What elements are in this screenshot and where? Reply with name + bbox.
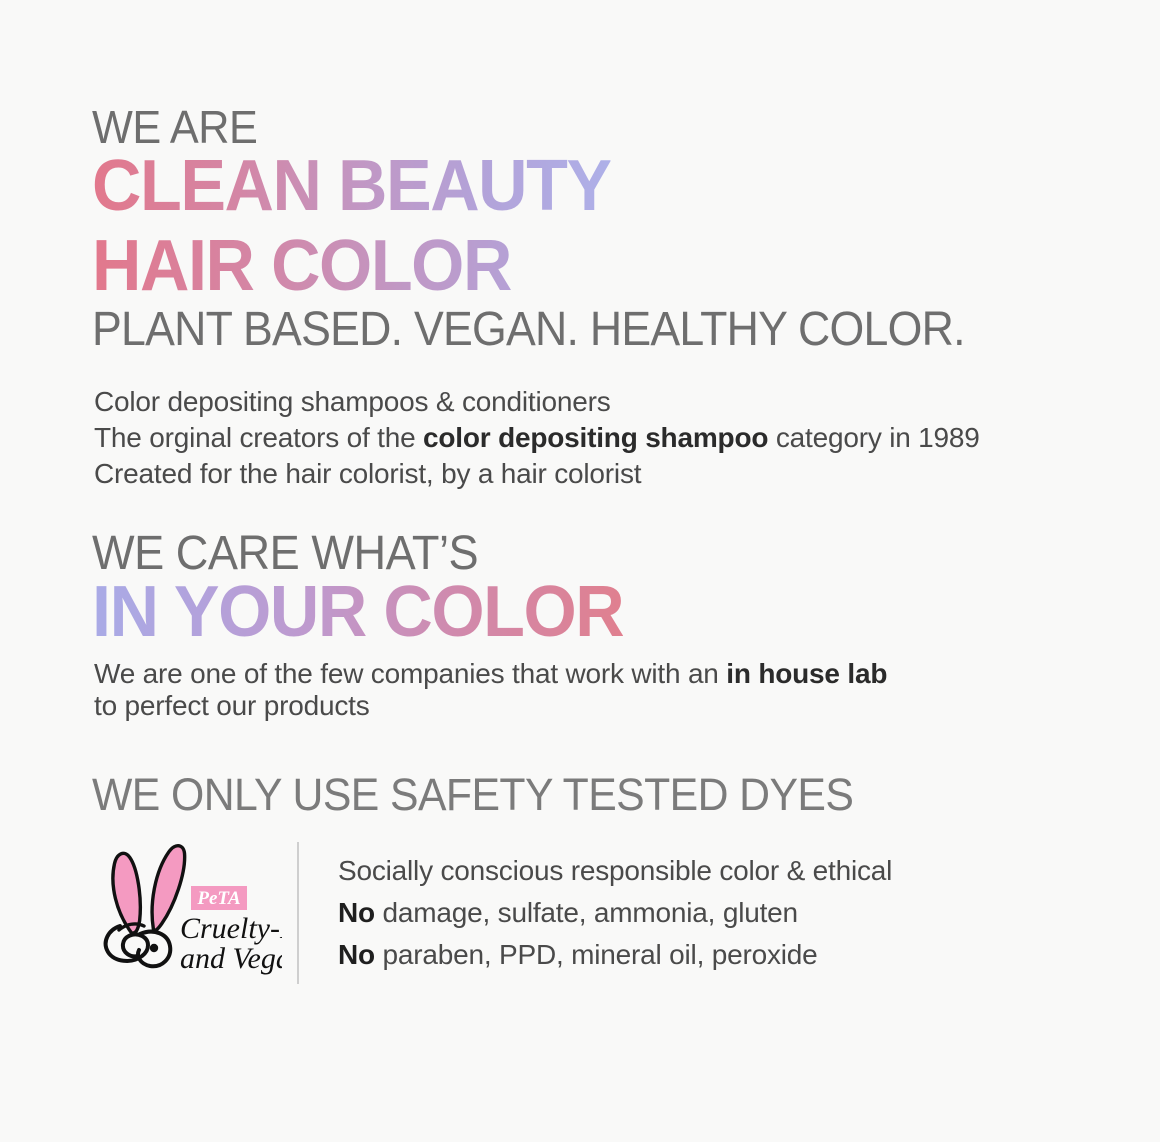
claim-item: Socially conscious responsible color & e…: [338, 850, 892, 892]
intro-line-2-suffix: category in 1989: [768, 422, 979, 453]
claims-list: Socially conscious responsible color & e…: [338, 850, 892, 976]
safety-details: PeTA Cruelty-Free and Vegan Socially con…: [92, 838, 992, 988]
intro-line-2-emphasis: color depositing shampoo: [423, 422, 768, 453]
claim-item: No paraben, PPD, mineral oil, peroxide: [338, 934, 892, 976]
hero-eyebrow: WE ARE: [92, 104, 257, 150]
intro-line-2-prefix: The orginal creators of the: [94, 422, 423, 453]
claim-text: damage, sulfate, ammonia, gluten: [375, 897, 798, 928]
peta-badge-label: PeTA: [196, 888, 240, 909]
care-body-emphasis: in house lab: [726, 658, 887, 689]
hero-headline-line-2: HAIR COLOR: [92, 230, 511, 302]
care-eyebrow: WE CARE WHAT’S: [92, 530, 478, 578]
safety-heading: WE ONLY USE SAFETY TESTED DYES: [92, 772, 853, 817]
peta-cruelty-free-vegan-logo: PeTA Cruelty-Free and Vegan: [92, 838, 282, 978]
vertical-divider: [297, 842, 299, 984]
claim-item: No damage, sulfate, ammonia, gluten: [338, 892, 892, 934]
care-body-line-2: to perfect our products: [94, 688, 370, 724]
care-body-prefix: We are one of the few companies that wor…: [94, 658, 726, 689]
peta-logo-line-1: Cruelty-Free: [180, 912, 282, 945]
care-headline: IN YOUR COLOR: [92, 576, 623, 648]
hero-headline-line-1: CLEAN BEAUTY: [92, 150, 611, 222]
peta-logo-line-2: and Vegan: [180, 942, 282, 975]
intro-line-1: Color depositing shampoos & conditioners: [94, 384, 611, 420]
claim-emphasis: No: [338, 897, 375, 928]
claim-text: paraben, PPD, mineral oil, peroxide: [375, 939, 818, 970]
hero-subheading: PLANT BASED. VEGAN. HEALTHY COLOR.: [92, 306, 965, 354]
claim-emphasis: No: [338, 939, 375, 970]
care-body-line-1: We are one of the few companies that wor…: [94, 656, 887, 692]
claim-text: Socially conscious responsible color & e…: [338, 855, 892, 886]
intro-line-2: The orginal creators of the color deposi…: [94, 420, 980, 456]
intro-line-3: Created for the hair colorist, by a hair…: [94, 456, 641, 492]
brand-info-page: WE ARE CLEAN BEAUTY HAIR COLOR PLANT BAS…: [0, 0, 1160, 1142]
